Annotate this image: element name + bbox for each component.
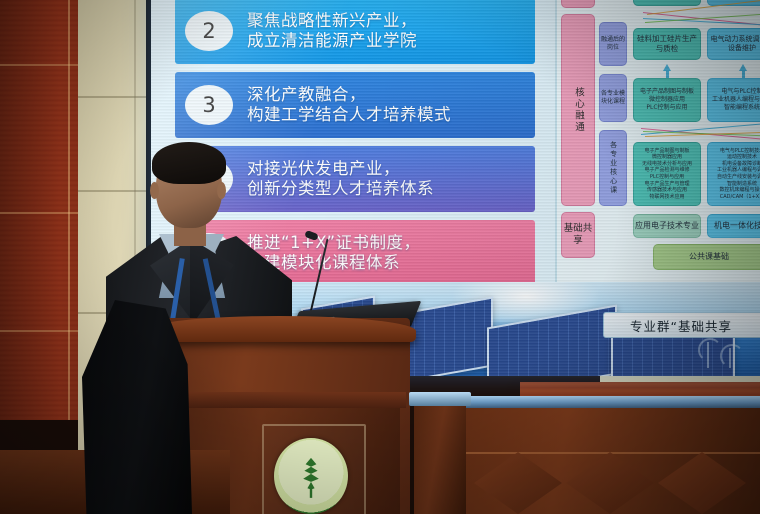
diagram-node: 电子产品制图与制板 微控制器应用 PLC控制与应用 bbox=[633, 78, 701, 122]
diagram-row-label: 各专业模块化课程 bbox=[599, 74, 627, 122]
podium-top-surface bbox=[142, 316, 416, 342]
diagram-group-label: 基础共享 bbox=[561, 212, 595, 258]
bullet-text: 聚焦战略性新兴产业， 成立清洁能源产业学院 bbox=[247, 11, 417, 51]
ear bbox=[217, 182, 226, 199]
diagram-node: 机电一体化技术 bbox=[707, 214, 760, 238]
ear bbox=[150, 182, 159, 199]
diagram-row-label: 融通后的岗位 bbox=[599, 22, 627, 66]
diagram-group-label: 拓展互选 bbox=[561, 0, 595, 8]
diagram-base-node: 公共课基础 bbox=[653, 244, 760, 270]
bullet-text: 深化产教融合， 构建工学结合人才培养模式 bbox=[247, 85, 451, 125]
diagram-node: 电子产品制图与制板 微控制器应用 无线电技术分析与应用 电子产品检测与维修 PL… bbox=[633, 142, 701, 206]
diagram-node: 电气与PLC控制 工业机器人编程与调试 智能编程系统 bbox=[707, 78, 760, 122]
bullet-number: 3 bbox=[185, 85, 233, 125]
diagram-arrow-up-icon bbox=[739, 64, 747, 71]
slide-caption: 专业群“基础共享 bbox=[603, 312, 760, 338]
stage-barrier-post-cap bbox=[409, 392, 471, 406]
diagram-node: 电气动力系统调试与设备维护 bbox=[707, 28, 760, 60]
stage-barrier-post bbox=[414, 398, 466, 514]
diagram-node: 电气与PLC控制技术 运动控制技术 机电设备故障诊断 工业机器人编程与调试 自动… bbox=[707, 142, 760, 206]
leaf-icon bbox=[296, 458, 326, 498]
curriculum-diagram: 拓展互选 核心融通 基础共享 融通后的岗位 各专业模块化课程 各专业核心课 创新… bbox=[555, 0, 760, 282]
slide-bullet-item: 3 深化产教融合， 构建工学结合人才培养模式 bbox=[175, 72, 535, 138]
school-crest-emblem bbox=[274, 438, 348, 514]
bullet-number: 2 bbox=[185, 11, 233, 51]
hair bbox=[152, 142, 226, 184]
screenshot-root: ……实训框架体系 2 聚焦战略性新兴产业， 成立清洁能源产业学院 3 深化产教融… bbox=[0, 0, 760, 514]
slide-bullet-item: 2 聚焦战略性新兴产业， 成立清洁能源产业学院 bbox=[175, 0, 535, 64]
diagram-group-label: 核心融通 bbox=[561, 14, 595, 206]
diagram-row-label: 各专业核心课 bbox=[599, 130, 627, 206]
wind-turbine-icon bbox=[707, 342, 709, 368]
podium-moulding bbox=[152, 392, 406, 408]
diagram-node: 应用电子技术专业 bbox=[633, 214, 701, 238]
diagram-arrow-up-icon bbox=[663, 64, 671, 71]
wind-turbine-icon bbox=[729, 348, 731, 368]
stage-barrier-cap bbox=[420, 396, 760, 408]
diagram-node: 创新电子产品设计 bbox=[633, 0, 701, 6]
diagram-node: 硅料加工硅片生产与质检 bbox=[633, 28, 701, 60]
